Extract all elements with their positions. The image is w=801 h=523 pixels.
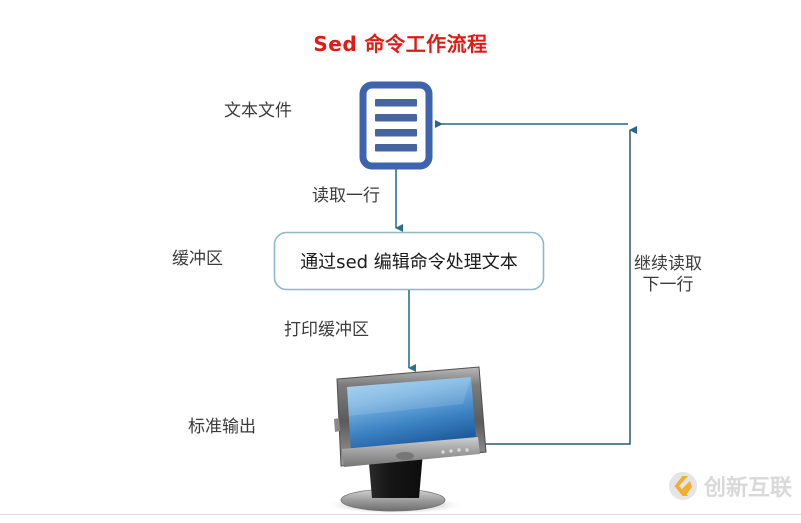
watermark-logo-icon (668, 471, 698, 501)
edge-label-continue-read-line2: 下一行 (643, 275, 694, 295)
document-icon (363, 85, 429, 166)
edge-label-print-buffer: 打印缓冲区 (284, 320, 369, 341)
node-label-text-file: 文本文件 (224, 101, 292, 122)
node-label-buffer: 缓冲区 (172, 249, 223, 270)
bottom-divider (0, 514, 801, 515)
watermark-text: 创新互联 (704, 470, 792, 502)
edge-label-read-line: 读取一行 (312, 186, 380, 207)
node-label-stdout: 标准输出 (188, 417, 256, 438)
monitor-icon (325, 367, 486, 514)
diagram-canvas: Sed 命令工作流程 (0, 0, 801, 523)
edge-label-continue-read: 继续读取下一行 (629, 254, 707, 297)
edge-label-continue-read-line1: 继续读取 (634, 254, 702, 274)
buffer-box-text: 通过sed 编辑命令处理文本 (274, 232, 544, 290)
watermark: 创新互联 (668, 470, 792, 502)
